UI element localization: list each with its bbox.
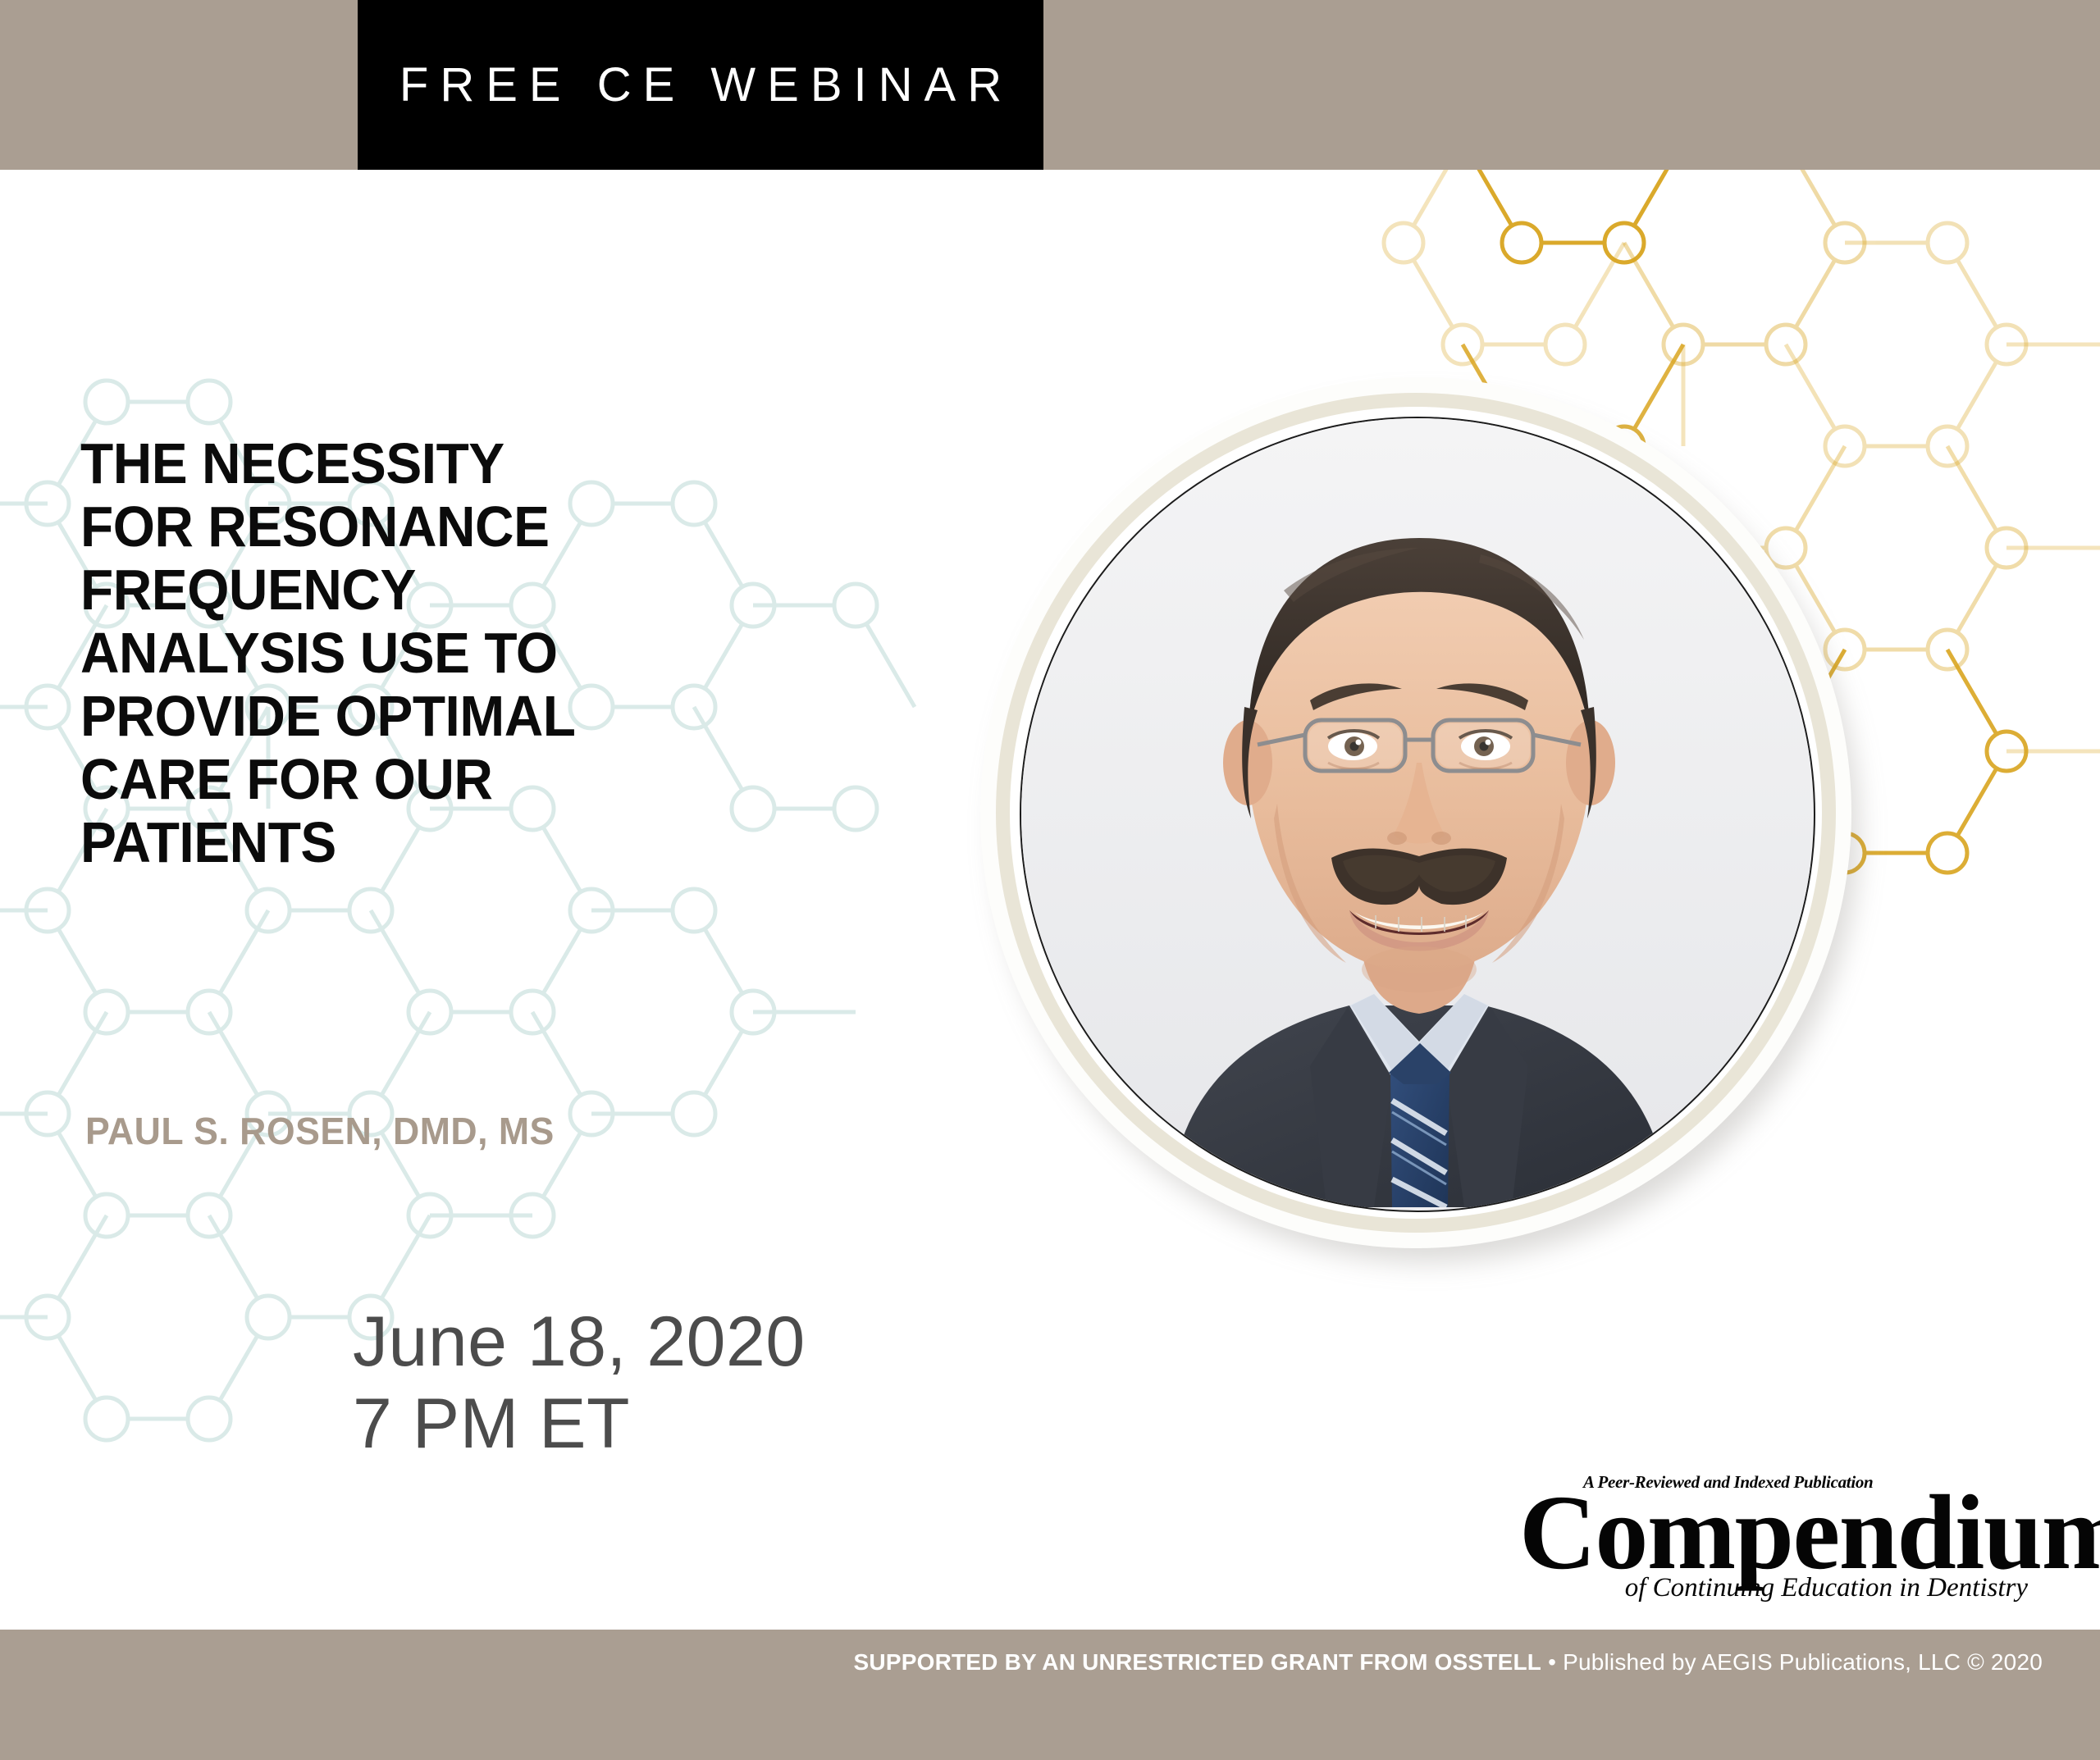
title-line: FOR RESONANCE [80, 495, 897, 559]
webinar-date: June 18, 2020 [353, 1301, 806, 1383]
webinar-datetime: June 18, 2020 7 PM ET [353, 1301, 806, 1465]
webinar-promo-graphic: FREE CE WEBINAR [0, 0, 2100, 1760]
header-tan-bar [0, 0, 2100, 170]
portrait-photo [1020, 417, 1815, 1212]
free-ce-webinar-badge: FREE CE WEBINAR [358, 0, 1043, 170]
footer-publisher-text: Published by AEGIS Publications, LLC © 2… [1563, 1649, 2043, 1675]
speaker-portrait [980, 377, 1874, 1271]
logo-wordmark: Compendium [1519, 1488, 2028, 1578]
footer-sponsor-text: SUPPORTED BY AN UNRESTRICTED GRANT FROM … [854, 1649, 1542, 1675]
footer-credits: SUPPORTED BY AN UNRESTRICTED GRANT FROM … [854, 1649, 2043, 1676]
title-line: CARE FOR OUR [80, 748, 897, 811]
title-line: PATIENTS [80, 811, 897, 874]
compendium-logo: A Peer-Reviewed and Indexed Publication … [1519, 1472, 2028, 1603]
footer-tan-bar: SUPPORTED BY AN UNRESTRICTED GRANT FROM … [0, 1630, 2100, 1760]
webinar-time: 7 PM ET [353, 1383, 806, 1465]
title-line: PROVIDE OPTIMAL [80, 685, 897, 748]
title-line: THE NECESSITY [80, 432, 897, 495]
title-line: ANALYSIS USE TO [80, 622, 897, 685]
webinar-title: THE NECESSITY FOR RESONANCE FREQUENCY AN… [80, 432, 950, 874]
footer-bullet-separator: • [1548, 1649, 1556, 1675]
badge-label: FREE CE WEBINAR [388, 57, 1013, 112]
speaker-name: PAUL S. ROSEN, DMD, MS [85, 1109, 555, 1153]
title-line: FREQUENCY [80, 559, 897, 622]
footer-separator [1541, 1649, 1548, 1675]
